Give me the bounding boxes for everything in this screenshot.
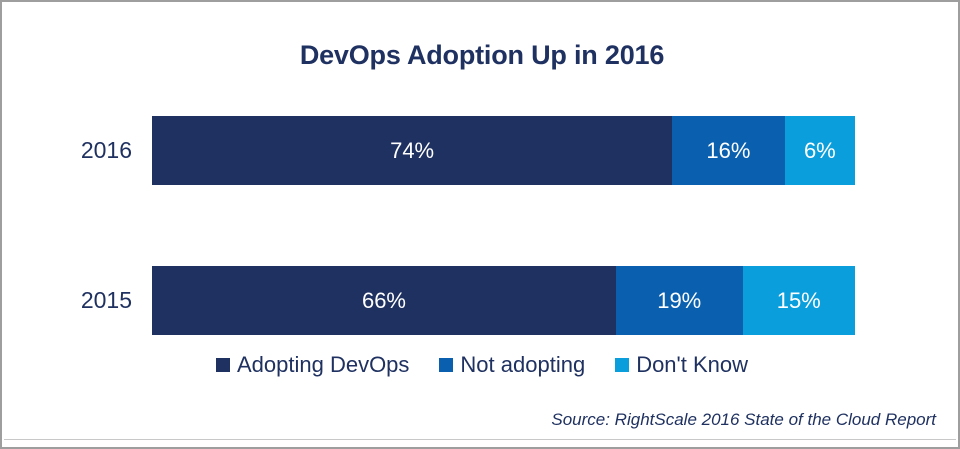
- legend-label-dont-know: Don't Know: [636, 352, 748, 378]
- source-divider: [4, 439, 956, 440]
- legend-item-not-adopting[interactable]: Not adopting: [439, 352, 585, 378]
- legend-swatch-icon-not-adopting: [439, 358, 453, 372]
- chart-legend: Adopting DevOps Not adopting Don't Know: [2, 352, 960, 378]
- category-label-2016: 2016: [22, 116, 132, 185]
- chart-figure: DevOps Adoption Up in 2016 2016 74% 16% …: [0, 0, 960, 449]
- bar-segment-2015-not-adopting[interactable]: 19%: [616, 266, 743, 335]
- legend-item-adopting-devops[interactable]: Adopting DevOps: [216, 352, 409, 378]
- legend-label-adopting: Adopting DevOps: [237, 352, 409, 378]
- legend-item-dont-know[interactable]: Don't Know: [615, 352, 748, 378]
- plot-area: 2016 74% 16% 6% 2015 66% 19% 15% Adoptin…: [2, 2, 960, 449]
- legend-swatch-icon-adopting: [216, 358, 230, 372]
- bar-row-2016: 74% 16% 6%: [152, 116, 855, 185]
- source-caption: Source: RightScale 2016 State of the Clo…: [551, 410, 936, 430]
- bar-segment-2016-not-adopting[interactable]: 16%: [672, 116, 784, 185]
- bar-segment-2015-dont-know[interactable]: 15%: [743, 266, 855, 335]
- category-label-2015: 2015: [22, 266, 132, 335]
- bar-segment-2016-adopting[interactable]: 74%: [152, 116, 672, 185]
- bar-segment-2016-dont-know[interactable]: 6%: [785, 116, 855, 185]
- bar-segment-2015-adopting[interactable]: 66%: [152, 266, 616, 335]
- legend-swatch-icon-dont-know: [615, 358, 629, 372]
- bar-row-2015: 66% 19% 15%: [152, 266, 855, 335]
- legend-label-not-adopting: Not adopting: [460, 352, 585, 378]
